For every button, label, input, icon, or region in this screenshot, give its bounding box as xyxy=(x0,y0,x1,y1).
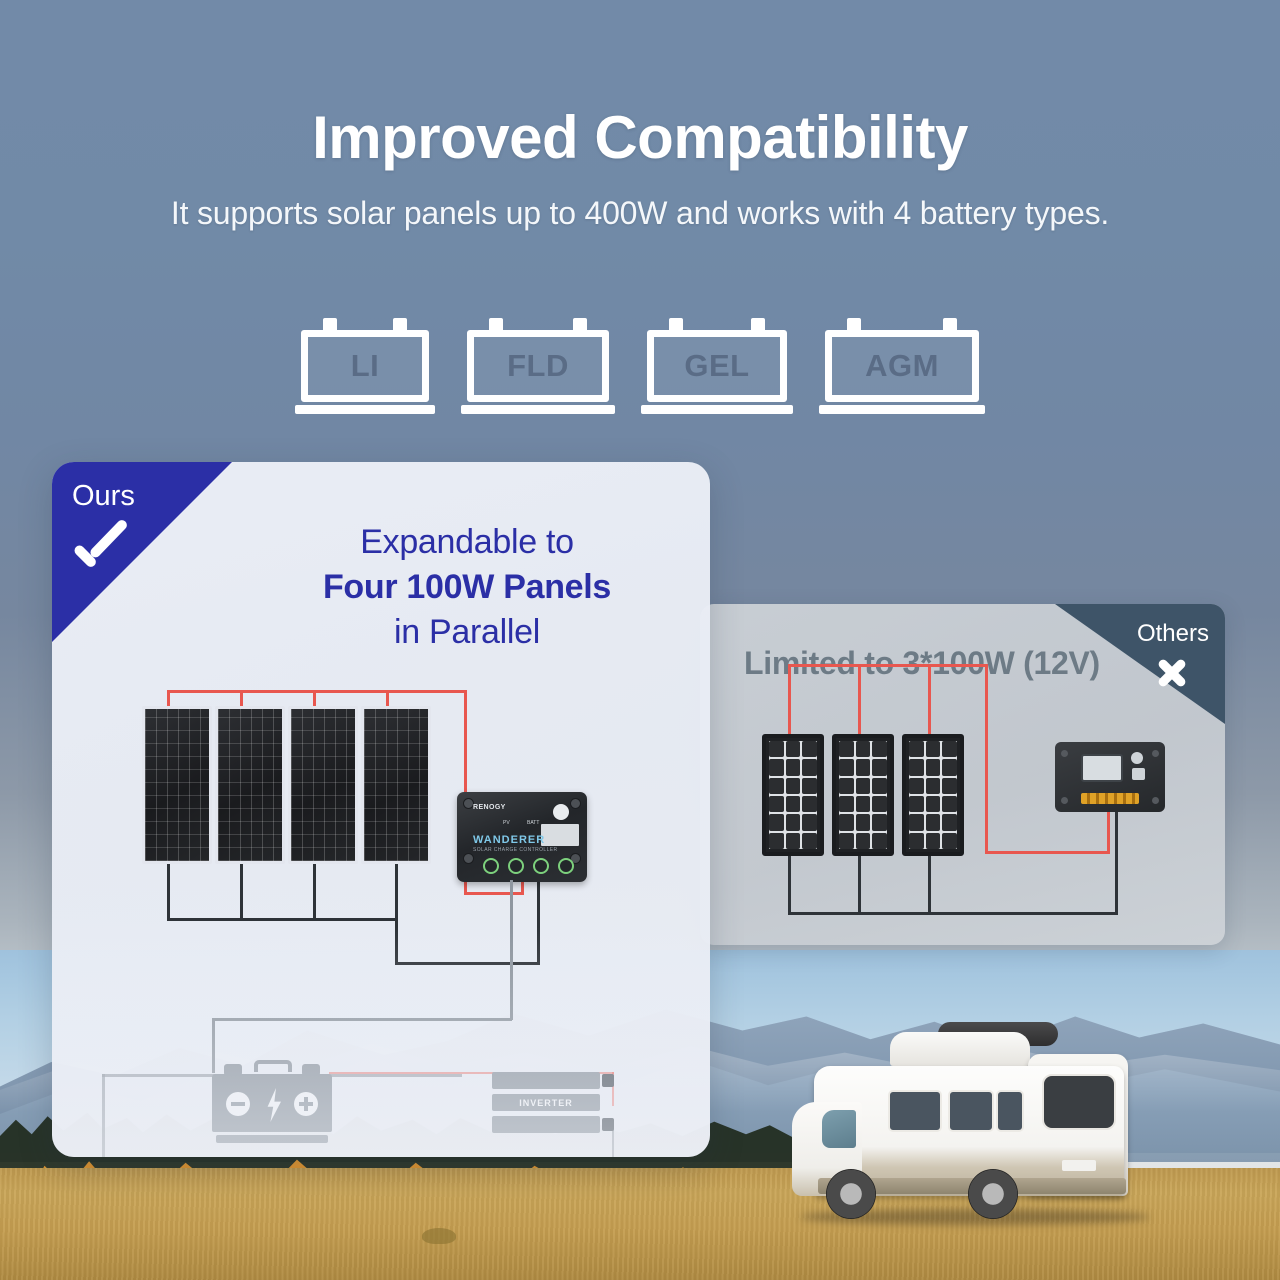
page-title: Improved Compatibility xyxy=(0,0,1280,169)
page-subtitle: It supports solar panels up to 400W and … xyxy=(0,195,1280,232)
solar-panel xyxy=(288,706,358,864)
battery-negative-icon xyxy=(226,1092,250,1116)
solar-panel xyxy=(762,734,824,856)
charge-controller xyxy=(1055,742,1165,812)
van-windshield xyxy=(822,1110,856,1148)
controller-lcd-display xyxy=(1081,754,1123,782)
van-roof-pop-top xyxy=(890,1032,1030,1066)
solar-panel xyxy=(142,706,212,864)
controller-model-label: WANDERER xyxy=(473,834,545,846)
van-wheel xyxy=(968,1169,1018,1219)
wire-positive xyxy=(985,851,1110,854)
solar-panel xyxy=(832,734,894,856)
wire-positive xyxy=(858,664,861,736)
screw-icon xyxy=(1152,750,1159,757)
controller-terminal xyxy=(483,858,499,874)
check-icon xyxy=(74,524,136,568)
battery-base xyxy=(216,1135,328,1143)
controller-terminal xyxy=(508,858,524,874)
controller-terminal-block xyxy=(1081,793,1139,804)
inverter-body xyxy=(492,1072,600,1089)
shrub xyxy=(422,1228,456,1244)
controller-button-icon xyxy=(1132,768,1145,780)
controller-button-icon xyxy=(1131,752,1143,764)
screw-icon xyxy=(1061,797,1068,804)
solar-panel xyxy=(215,706,285,864)
x-icon xyxy=(1155,656,1189,690)
battery-chip-fld: FLD xyxy=(467,318,609,414)
battery-base-icon xyxy=(641,405,793,414)
wire-negative xyxy=(167,918,397,921)
wire-positive xyxy=(788,664,791,736)
ours-wiring-diagram: RENOGY PV BATT WANDERER SOLAR CHARGE CON… xyxy=(52,462,710,1157)
battery-outline-icon: LI xyxy=(301,330,429,402)
screw-icon xyxy=(1152,797,1159,804)
wire-load xyxy=(212,1018,512,1021)
panel-cell-grid xyxy=(769,741,817,849)
controller-subtitle-label: SOLAR CHARGE CONTROLLER xyxy=(473,847,558,853)
inverter-label: INVERTER xyxy=(519,1098,573,1108)
wire-negative xyxy=(395,962,540,965)
charge-controller: RENOGY PV BATT WANDERER SOLAR CHARGE CON… xyxy=(457,792,587,882)
wire-positive xyxy=(464,892,524,895)
wire-dc-bus xyxy=(612,1130,614,1157)
controller-knob-icon xyxy=(553,804,569,820)
inverter-terminal xyxy=(602,1074,614,1087)
battery-chip-agm: AGM xyxy=(825,318,979,414)
wire-load xyxy=(510,880,513,1020)
inverter-terminal xyxy=(602,1118,614,1131)
battery-base-icon xyxy=(461,405,615,414)
inverter-unit: INVERTER xyxy=(492,1072,614,1134)
battery-outline-icon: AGM xyxy=(825,330,979,402)
ours-comparison-card: Expandable to Four 100W Panels in Parall… xyxy=(52,462,710,1157)
solar-panel xyxy=(902,734,964,856)
battery-base-icon xyxy=(819,405,985,414)
others-badge-label: Others xyxy=(1137,620,1209,648)
van-rear-window xyxy=(1042,1074,1116,1130)
page-root: Improved Compatibility It supports solar… xyxy=(0,0,1280,1280)
controller-port-pv-label: PV xyxy=(503,820,510,826)
camper-van xyxy=(770,1010,1160,1225)
van-wheel xyxy=(826,1169,876,1219)
battery-outline-icon: FLD xyxy=(467,330,609,402)
wire-positive xyxy=(985,664,988,854)
panel-cell-grid xyxy=(839,741,887,849)
battery-chip-label: GEL xyxy=(684,348,749,384)
wire-negative xyxy=(537,870,540,965)
wire-negative xyxy=(788,856,791,914)
wire-negative xyxy=(167,864,170,920)
ours-badge-label: Ours xyxy=(72,480,135,513)
wire-negative xyxy=(858,856,861,914)
wire-negative xyxy=(928,856,931,914)
van-window xyxy=(996,1090,1024,1132)
van-license-plate xyxy=(1062,1160,1096,1171)
battery-icon xyxy=(212,1060,332,1138)
wire-negative xyxy=(313,864,316,920)
controller-info-label xyxy=(541,824,579,846)
wire-positive xyxy=(928,664,931,736)
wire-positive xyxy=(788,664,988,667)
inverter-body xyxy=(492,1116,600,1133)
wire-positive xyxy=(167,690,467,693)
inverter-body: INVERTER xyxy=(492,1094,600,1111)
controller-terminal xyxy=(558,858,574,874)
controller-terminal-row xyxy=(483,858,574,874)
battery-chip-gel: GEL xyxy=(647,318,787,414)
screw-icon xyxy=(570,798,581,809)
wire-negative xyxy=(1115,812,1118,915)
battery-chip-label: AGM xyxy=(865,348,939,384)
van-window xyxy=(948,1090,994,1132)
wire-negative xyxy=(395,864,398,964)
screw-icon xyxy=(1061,750,1068,757)
battery-handle-icon xyxy=(254,1060,292,1072)
battery-positive-icon xyxy=(294,1092,318,1116)
hero-section: Improved Compatibility It supports solar… xyxy=(0,0,1280,232)
panel-cell-grid xyxy=(909,741,957,849)
battery-chip-li: LI xyxy=(301,318,429,414)
battery-chip-label: FLD xyxy=(507,348,569,384)
van-window xyxy=(888,1090,942,1132)
controller-port-batt-label: BATT xyxy=(527,820,539,826)
screw-icon xyxy=(463,853,474,864)
battery-outline-icon: GEL xyxy=(647,330,787,402)
controller-terminal xyxy=(533,858,549,874)
battery-base-icon xyxy=(295,405,435,414)
wire-negative xyxy=(788,912,1118,915)
wire-dc-bus xyxy=(102,1074,105,1157)
wire-positive xyxy=(1107,809,1110,854)
controller-brand-label: RENOGY xyxy=(473,804,506,811)
battery-chip-label: LI xyxy=(351,348,380,384)
wire-negative xyxy=(240,864,243,920)
battery-type-row: LI FLD GEL AGM xyxy=(0,318,1280,414)
solar-panel xyxy=(361,706,431,864)
others-comparison-card: Limited to 3*100W (12V) xyxy=(700,604,1225,945)
